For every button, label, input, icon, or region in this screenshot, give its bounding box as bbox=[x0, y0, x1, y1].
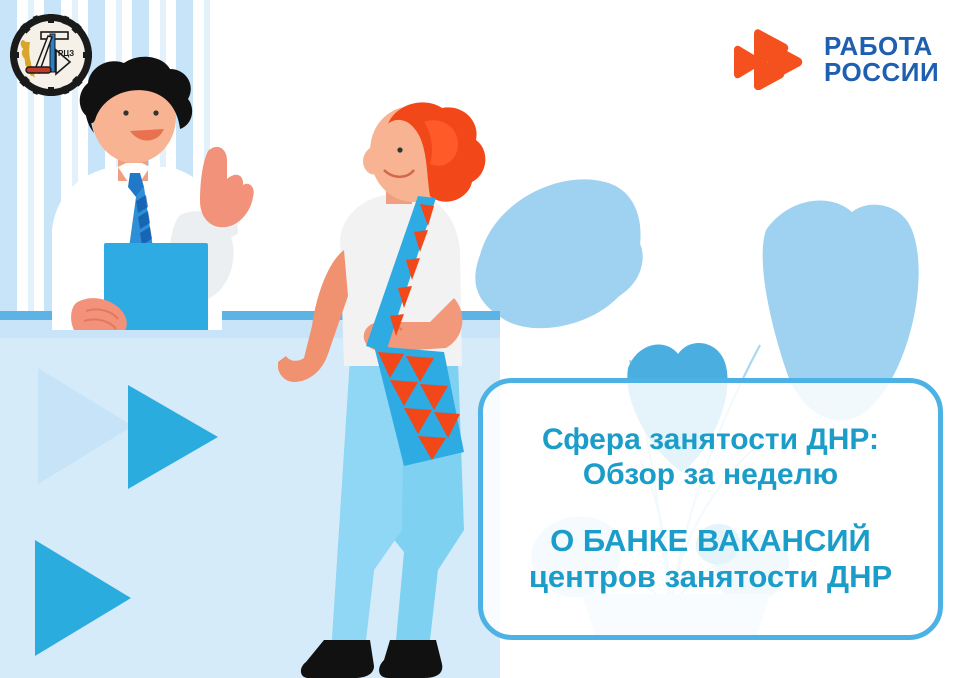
poster-canvas: РЦЗ РАБОТА РОССИИ Сфера занятости ДНР: О… bbox=[0, 0, 960, 678]
triangle-decor-blue-bottom bbox=[35, 540, 131, 656]
triangle-decor-pale bbox=[38, 368, 133, 484]
headline-card: Сфера занятости ДНР: Обзор за неделю О Б… bbox=[478, 378, 943, 640]
card-subtitle-line-2: центров занятости ДНР bbox=[529, 559, 892, 596]
card-subtitle-line-1: О БАНКЕ ВАКАНСИЙ bbox=[550, 523, 871, 560]
logo-line-2: РОССИИ bbox=[824, 59, 939, 85]
logo-line-1: РАБОТА bbox=[824, 33, 939, 59]
card-title-line-2: Обзор за неделю bbox=[583, 457, 838, 492]
emblem-inscription: РЦЗ bbox=[58, 49, 74, 58]
card-title-line-1: Сфера занятости ДНР: bbox=[542, 422, 879, 457]
triangle-decor-blue-top bbox=[128, 385, 218, 489]
logo-wordmark: РАБОТА РОССИИ bbox=[824, 33, 939, 85]
logo-triangles bbox=[734, 28, 806, 90]
rabota-rossii-logo: РАБОТА РОССИИ bbox=[734, 28, 939, 90]
dnr-employment-service-emblem: РЦЗ bbox=[8, 12, 94, 98]
